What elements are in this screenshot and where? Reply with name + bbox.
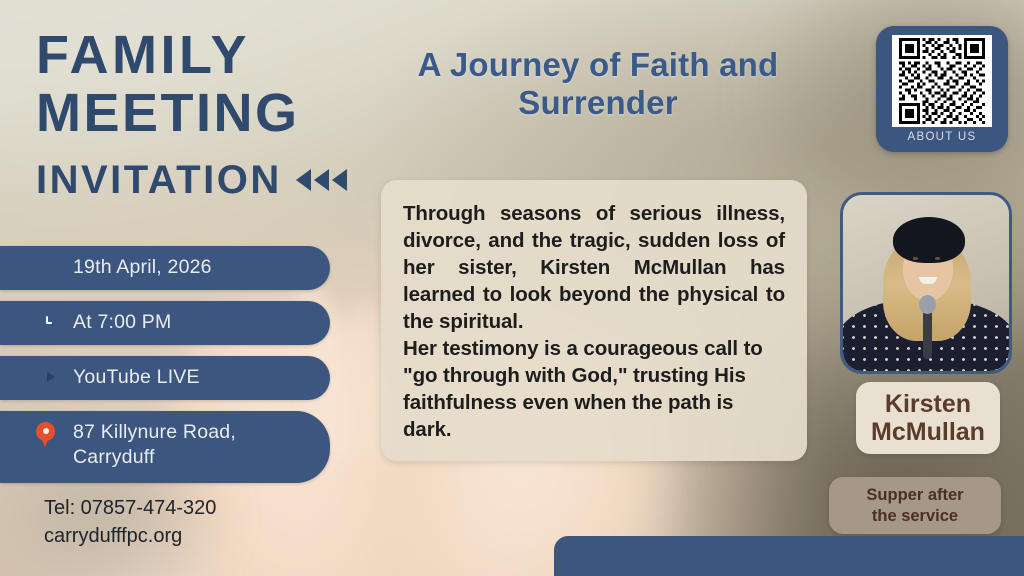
contact-phone[interactable]: Tel: 07857-474-320 [44,494,216,522]
detail-label-stream: YouTube LIVE [73,365,200,390]
detail-row-date[interactable]: 19th April, 2026 [0,246,330,290]
detail-row-address[interactable]: 87 Killynure Road, Carryduff [0,411,330,483]
headline-line-3: INVITATION [36,158,282,203]
supper-line-1: Supper after [839,485,991,506]
headline-line-2: MEETING [36,88,376,140]
contact-block: Tel: 07857-474-320 carrydufffpc.org [44,494,216,551]
speaker-photo-image [843,195,1009,371]
detail-label-date: 19th April, 2026 [73,255,212,280]
clock-icon [36,312,60,336]
detail-row-time[interactable]: At 7:00 PM [0,301,330,345]
speaker-nameplate: Kirsten McMullan [856,382,1000,454]
poster-canvas: FAMILY MEETING INVITATION 19th April, 20… [0,0,1024,576]
map-pin-icon [36,422,60,446]
contact-website[interactable]: carrydufffpc.org [44,522,216,550]
headline-line-1: FAMILY [36,30,376,82]
calendar-icon [36,257,60,281]
detail-label-address: 87 Killynure Road, Carryduff [73,420,308,470]
speaker-photo [840,192,1012,374]
qr-code-matrix [895,38,989,124]
description-paragraph-1: Through seasons of serious illness, divo… [403,200,785,335]
qr-code-label: ABOUT US [908,131,977,143]
event-details-list: 19th April, 2026 At 7:00 PM YouTube LIVE… [0,246,330,494]
bottom-accent-bar [554,536,1024,576]
supper-line-2: the service [839,506,991,527]
speaker-name-line-1: Kirsten [866,390,990,418]
qr-code-block[interactable]: ABOUT US [876,26,1008,152]
description-paragraph-2: Her testimony is a courageous call to "g… [403,335,785,443]
page-title: A Journey of Faith and Surrender [368,46,828,121]
detail-row-stream[interactable]: YouTube LIVE [0,356,330,400]
qr-code-icon[interactable] [892,35,992,127]
description-card: Through seasons of serious illness, divo… [381,180,807,461]
triple-left-arrow-icon [296,169,347,191]
headline-block: FAMILY MEETING INVITATION [36,30,376,203]
speaker-name-line-2: McMullan [866,418,990,446]
headline-line-3-row: INVITATION [36,158,376,203]
detail-label-time: At 7:00 PM [73,310,171,335]
supper-badge: Supper after the service [829,477,1001,534]
youtube-icon [36,367,60,391]
